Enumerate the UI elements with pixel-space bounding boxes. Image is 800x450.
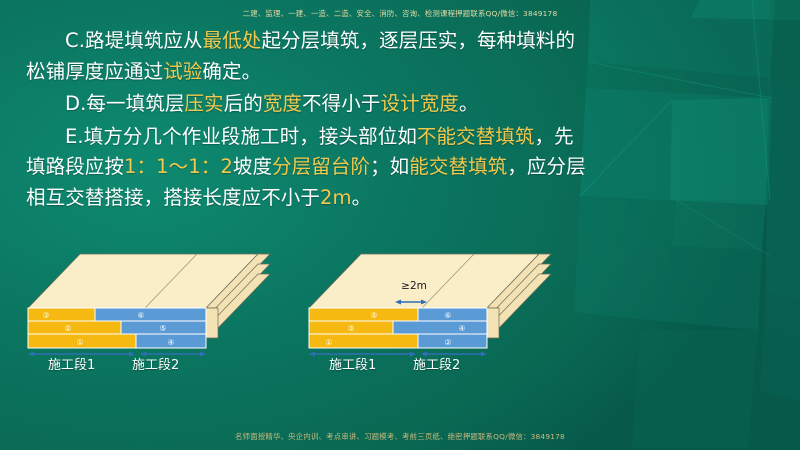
block-6 [95,308,206,321]
line-d-highlight-5: 设计宽度 [380,92,458,115]
block-label-2: ② [64,324,71,333]
block-6 [418,308,487,321]
line-d-highlight-1: 压实 [184,92,223,115]
line-e-text-4: 坡度 [233,155,272,178]
diagram-no-alternating-fill: .sTop{fill:#faeec9;stroke:#6b6a56;stroke… [8,236,292,384]
block-label-6: ⑥ [137,311,144,320]
caption-section-2: 施工段2 [132,354,179,373]
lecture-text-block: C.路堤填筑应从最低处起分层填筑，逐层压实，每种填料的松铺厚度应通过试验确定。 … [26,26,592,215]
line-e-text-10: 。 [352,186,372,209]
block-label-2: ② [444,338,451,347]
slab-right-face [487,308,499,338]
bottom-promo-banner: 名师面授精华、央企内训、考点串讲、习题模考、考前三页纸、绝密押题联系QQ/微信：… [0,431,800,442]
line-e-text-0: E.填方分几个作业段施工时，接头部位如 [65,125,417,148]
line-e-highlight-1: 不能交替填筑 [417,125,535,148]
line-e-highlight-9: 2m [320,186,352,209]
block-label-4: ④ [458,324,465,333]
block-label-1: ① [76,338,83,347]
block-2 [28,321,121,334]
block-label-6: ⑥ [444,311,451,320]
line-d-text-2: 后的 [224,92,263,115]
block-5 [309,308,418,321]
block-label-4: ④ [167,338,174,347]
text-line-e: E.填方分几个作业段施工时，接头部位如不能交替填筑，先填路段应按1：1～1：2坡… [26,122,592,214]
top-promo-banner: 二建、监理、一建、一造、二造、安全、消防、咨询、检测课程押题联系QQ/微信：38… [0,8,800,19]
line-d-highlight-3: 宽度 [263,92,302,115]
caption-section-2: 施工段2 [413,354,460,373]
block-3 [28,308,95,321]
block-2 [418,334,487,348]
line-e-highlight-3: 1：1～1：2 [124,155,233,178]
line-e-highlight-7: 能交替填筑 [409,155,507,178]
diagram-alternating-lap-fill: .sTop2{fill:#faeec9;stroke:#6b6a56;strok… [296,236,588,384]
block-label-1: ① [325,338,332,347]
line-d-text-4: 不得小于 [302,92,380,115]
line-e-highlight-5: 分层留台阶 [272,155,370,178]
line-c-text-4: 确定。 [202,60,261,83]
text-line-c: C.路堤填筑应从最低处起分层填筑，逐层压实，每种填料的松铺厚度应通过试验确定。 [26,26,592,87]
caption-section-1: 施工段1 [329,354,376,373]
slab-right-face [206,308,218,338]
caption-section-1: 施工段1 [48,354,95,373]
overlap-label: ≥2m [401,280,427,292]
slide-canvas: 二建、监理、一建、一造、二造、安全、消防、咨询、检测课程押题联系QQ/微信：38… [0,0,800,450]
line-c-highlight-1: 最低处 [203,29,262,52]
block-label-3: ③ [347,324,354,333]
line-c-text-0: C.路堤填筑应从 [65,29,203,52]
line-e-text-6: ；如 [370,155,409,178]
block-label-3: ③ [42,311,49,320]
line-d-text-6: 。 [459,92,479,115]
block-label-5: ⑤ [159,324,166,333]
block-4 [393,321,487,334]
text-line-d: D.每一填筑层压实后的宽度不得小于设计宽度。 [26,89,592,120]
line-d-text-0: D.每一填筑层 [65,92,184,115]
block-label-5: ⑤ [370,311,377,320]
line-c-highlight-3: 试验 [163,60,202,83]
